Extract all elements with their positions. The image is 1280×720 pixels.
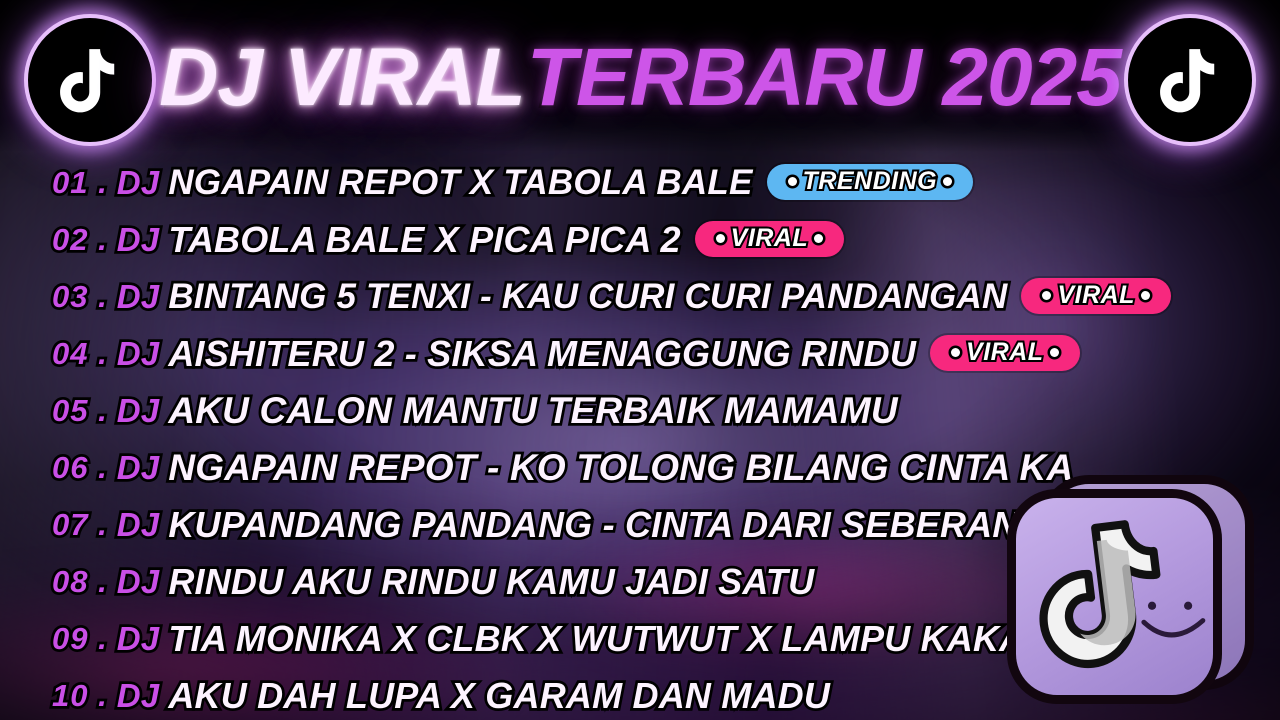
tiktok-logo-right bbox=[1124, 14, 1256, 146]
track-dj-prefix: DJ bbox=[117, 278, 160, 316]
track-title: TIA MONIKA X CLBK X WUTWUT X LAMPU KAKA bbox=[168, 618, 1025, 660]
track-title: NGAPAIN REPOT X TABOLA BALE bbox=[168, 163, 752, 203]
track-dj-prefix: DJ bbox=[117, 563, 160, 601]
track-number: 08 . bbox=[52, 564, 108, 600]
badge-dot-left bbox=[788, 177, 797, 186]
track-number: 03 . bbox=[52, 279, 108, 315]
badge-dot-right bbox=[943, 177, 952, 186]
status-badge-viral: VIRAL bbox=[930, 335, 1080, 371]
track-number: 05 . bbox=[52, 393, 108, 429]
track-dj-prefix: DJ bbox=[117, 335, 160, 373]
track-title: TABOLA BALE X PICA PICA 2 bbox=[168, 219, 680, 261]
track-dj-prefix: DJ bbox=[117, 221, 160, 259]
track-title: AISHITERU 2 - SIKSA MENAGGUNG RINDU bbox=[168, 333, 916, 375]
track-number: 09 . bbox=[52, 621, 108, 657]
track-dj-prefix: DJ bbox=[117, 677, 160, 715]
badge-dot-left bbox=[1042, 291, 1051, 300]
track-title: RINDU AKU RINDU KAMU JADI SATU bbox=[168, 561, 814, 603]
app-icon-smile-face bbox=[1134, 592, 1216, 654]
badge-dot-right bbox=[1050, 348, 1059, 357]
tiktok-note-icon bbox=[1152, 42, 1228, 118]
track-dj-prefix: DJ bbox=[117, 506, 160, 544]
track-title: AKU DAH LUPA X GARAM DAN MADU bbox=[168, 675, 830, 717]
header-bar: DJ VIRALTERBARU 2025 bbox=[0, 0, 1280, 152]
badge-dot-left bbox=[716, 234, 725, 243]
title-part-two: TERBARU 2025 bbox=[527, 32, 1121, 123]
tiktok-app-icon bbox=[972, 460, 1262, 712]
badge-label: VIRAL bbox=[1057, 281, 1135, 310]
track-dj-prefix: DJ bbox=[117, 620, 160, 658]
status-badge-viral: VIRAL bbox=[1021, 278, 1171, 314]
track-dj-prefix: DJ bbox=[117, 449, 160, 487]
track-title: BINTANG 5 TENXI - KAU CURI CURI PANDANGA… bbox=[168, 277, 1007, 317]
list-item[interactable]: 05 . DJ AKU CALON MANTU TERBAIK MAMAMU bbox=[0, 382, 1280, 439]
track-number: 07 . bbox=[52, 507, 108, 543]
video-thumbnail: DJ VIRALTERBARU 2025 01 . DJ NGAPAIN REP… bbox=[0, 0, 1280, 720]
list-item[interactable]: 03 . DJ BINTANG 5 TENXI - KAU CURI CURI … bbox=[0, 268, 1280, 325]
track-number: 02 . bbox=[52, 222, 108, 258]
status-badge-trending: TRENDING bbox=[767, 164, 974, 200]
badge-dot-left bbox=[951, 348, 960, 357]
list-item[interactable]: 04 . DJ AISHITERU 2 - SIKSA MENAGGUNG RI… bbox=[0, 325, 1280, 382]
track-number: 10 . bbox=[52, 678, 108, 714]
list-item[interactable]: 02 . DJ TABOLA BALE X PICA PICA 2 VIRAL bbox=[0, 211, 1280, 268]
track-number: 06 . bbox=[52, 450, 108, 486]
badge-label: TRENDING bbox=[803, 167, 938, 196]
track-dj-prefix: DJ bbox=[117, 164, 160, 202]
track-title: NGAPAIN REPOT - KO TOLONG BILANG CINTA K… bbox=[168, 447, 1073, 489]
list-item[interactable]: 01 . DJ NGAPAIN REPOT X TABOLA BALE TREN… bbox=[0, 154, 1280, 211]
badge-label: VIRAL bbox=[966, 338, 1044, 367]
badge-label: VIRAL bbox=[731, 224, 809, 253]
title-part-one: DJ VIRAL bbox=[159, 32, 527, 123]
track-number: 01 . bbox=[52, 165, 108, 201]
badge-dot-right bbox=[814, 234, 823, 243]
track-dj-prefix: DJ bbox=[117, 392, 160, 430]
track-number: 04 . bbox=[52, 336, 108, 372]
page-title: DJ VIRALTERBARU 2025 bbox=[0, 22, 1280, 134]
badge-dot-right bbox=[1141, 291, 1150, 300]
track-title: AKU CALON MANTU TERBAIK MAMAMU bbox=[168, 390, 897, 432]
track-title: KUPANDANG PANDANG - CINTA DARI SEBERANG bbox=[168, 504, 1046, 546]
status-badge-viral: VIRAL bbox=[695, 221, 845, 257]
